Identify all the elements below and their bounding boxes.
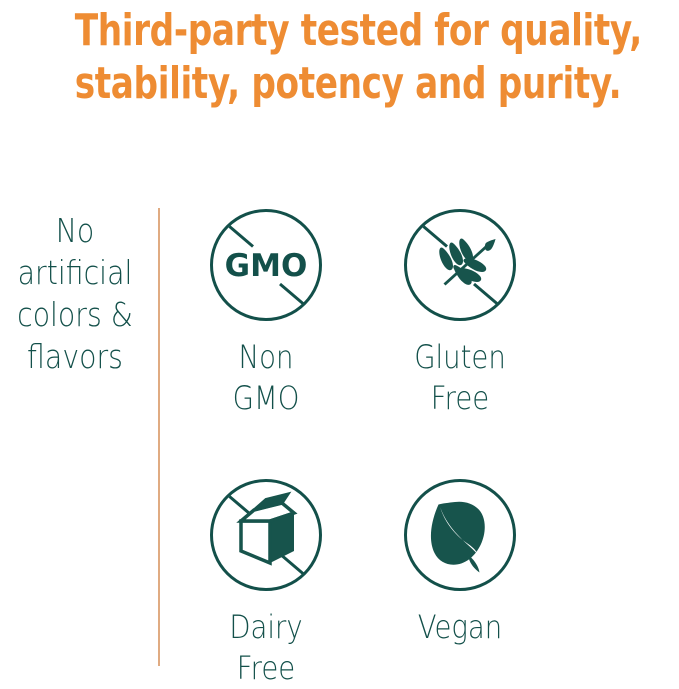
no-milk-carton-icon xyxy=(208,477,324,593)
badge-dairy-free: Dairy Free xyxy=(176,477,356,689)
left-claim-line-1: No xyxy=(11,210,140,252)
gmo-letters: GMO xyxy=(225,248,308,284)
badge-label-line-2: Free xyxy=(383,378,538,419)
left-claim-line-3: colors & xyxy=(11,294,140,336)
badge-label-line-1: Vegan xyxy=(383,607,538,648)
badge-label-non-gmo: Non GMO xyxy=(189,337,344,419)
left-claim-line-4: flavors xyxy=(11,336,140,378)
no-gmo-icon: GMO xyxy=(208,207,324,323)
badge-label-line-2: Free xyxy=(189,648,344,689)
badge-label-line-2: GMO xyxy=(189,378,344,419)
no-wheat-icon xyxy=(402,207,518,323)
badge-label-line-1: Non xyxy=(189,337,344,378)
headline-line-1: Third-party tested for quality, xyxy=(75,4,605,57)
badge-vegan: Vegan xyxy=(370,477,550,648)
left-claim-line-2: artificial xyxy=(11,252,140,294)
leaf-glyph xyxy=(431,502,485,573)
badge-gluten-free: Gluten Free xyxy=(370,207,550,419)
badge-label-line-1: Dairy xyxy=(189,607,344,648)
badge-label-gluten-free: Gluten Free xyxy=(383,337,538,419)
badge-label-line-1: Gluten xyxy=(383,337,538,378)
vertical-divider xyxy=(158,208,160,666)
badge-label-vegan: Vegan xyxy=(383,607,538,648)
leaf-icon xyxy=(402,477,518,593)
milk-carton-glyph xyxy=(241,494,294,563)
headline-block: Third-party tested for quality, stabilit… xyxy=(0,0,679,110)
badge-label-dairy-free: Dairy Free xyxy=(189,607,344,689)
badge-non-gmo: GMO Non GMO xyxy=(176,207,356,419)
headline-line-2: stability, potency and purity. xyxy=(75,57,605,110)
no-artificial-colors-flavors-claim: No artificial colors & flavors xyxy=(11,210,140,378)
